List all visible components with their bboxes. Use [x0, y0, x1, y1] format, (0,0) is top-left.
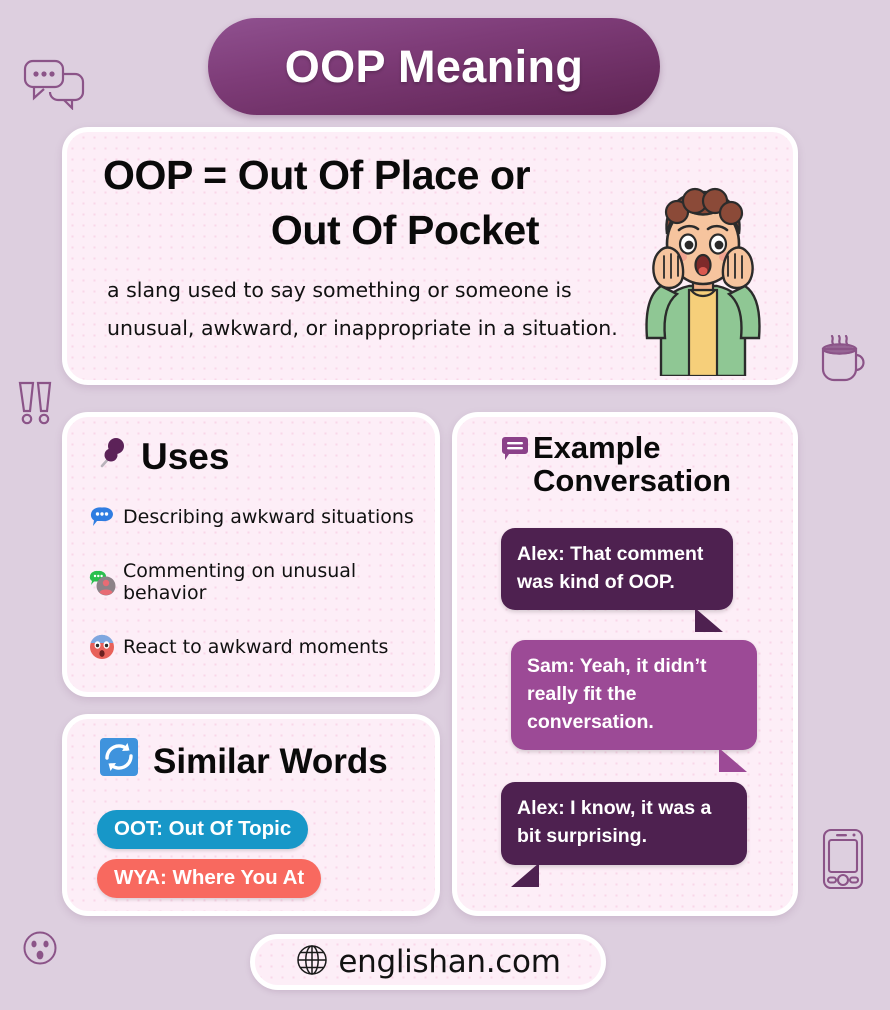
chat-bubble-tail: [695, 608, 723, 632]
chat-bubble: Sam: Yeah, it didn’t really fit the conv…: [511, 640, 757, 750]
chat-bubble-text: Alex: That comment was kind of OOP.: [517, 543, 703, 593]
definition-body: a slang used to say something or someone…: [107, 271, 647, 348]
uses-list-item-label: Commenting on unusual behavior: [123, 560, 417, 604]
example-conversation-card: Example Conversation Alex: That comment …: [452, 412, 798, 916]
chat-bubble-tail: [719, 748, 747, 772]
similar-words-title-row: Similar Words: [89, 737, 417, 786]
page-title-banner: OOP Meaning: [208, 18, 660, 115]
chat-bubbles-icon: [22, 58, 86, 110]
uses-list-item-label: Describing awkward situations: [123, 506, 414, 528]
shocked-face-emoji: [89, 634, 115, 660]
uses-title: Uses: [141, 436, 229, 478]
uses-title-row: Uses: [89, 435, 417, 478]
similar-words-pill-list: OOT: Out Of Topic WYA: Where You At: [89, 810, 417, 908]
uses-list-item: Commenting on unusual behavior: [89, 560, 417, 604]
pushpin-icon: [97, 435, 131, 478]
speech-balloon-emoji: [89, 504, 115, 530]
chat-bubble: Alex: I know, it was a bit surprising.: [501, 782, 747, 864]
chat-bubble-text: Alex: I know, it was a bit surprising.: [517, 797, 711, 847]
example-title-line2: Conversation: [533, 464, 731, 497]
speech-bubble-icon: [501, 435, 529, 468]
chat-bubble-tail: [511, 863, 539, 887]
similar-word-pill[interactable]: WYA: Where You At: [97, 859, 321, 898]
shocked-face-icon: [22, 930, 58, 966]
uses-list-item-label: React to awkward moments: [123, 636, 388, 658]
similar-words-title: Similar Words: [153, 742, 388, 782]
shocked-person-illustration: [631, 186, 775, 376]
smartphone-icon: [822, 828, 864, 890]
refresh-sync-icon: [99, 737, 139, 786]
uses-list-item: React to awkward moments: [89, 634, 417, 660]
uses-card: Uses Describing awkward situations: [62, 412, 440, 697]
conversation-bubbles: Alex: That comment was kind of OOP. Sam:…: [479, 528, 773, 865]
chat-bubble: Alex: That comment was kind of OOP.: [501, 528, 733, 610]
example-title-row: Example Conversation: [479, 431, 773, 498]
footer-site-pill[interactable]: englishan.com: [250, 934, 606, 990]
similar-word-pill[interactable]: OOT: Out Of Topic: [97, 810, 308, 849]
speech-person-emoji: [89, 569, 115, 595]
page-title: OOP Meaning: [285, 41, 584, 93]
coffee-cup-icon: [815, 335, 869, 387]
example-title: Example Conversation: [533, 431, 731, 498]
uses-list: Describing awkward situations Commenting…: [89, 504, 417, 660]
footer-site-name: englishan.com: [338, 944, 560, 980]
example-title-line1: Example: [533, 431, 731, 464]
globe-icon: [295, 943, 329, 981]
double-exclamation-icon: [16, 380, 54, 428]
chat-bubble-text: Sam: Yeah, it didn’t really fit the conv…: [527, 655, 707, 732]
definition-card: OOP = Out Of Place or Out Of Pocket a sl…: [62, 127, 798, 385]
similar-words-card: Similar Words OOT: Out Of Topic WYA: Whe…: [62, 714, 440, 916]
uses-list-item: Describing awkward situations: [89, 504, 417, 530]
